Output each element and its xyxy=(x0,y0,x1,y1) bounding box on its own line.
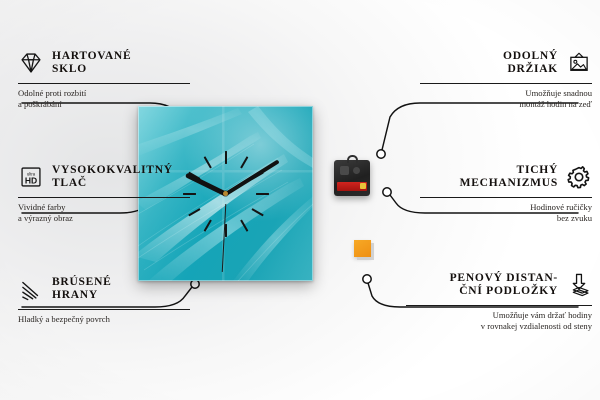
feature-title: BRÚSENÉ HRANY xyxy=(52,276,112,303)
feature-head: BRÚSENÉ HRANY xyxy=(18,272,190,306)
feature-description: Hladký a bezpečný povrch xyxy=(18,314,190,325)
arrow-down-layers-icon xyxy=(566,272,592,298)
feature-description: Umožňuje vám držať hodiny v rovnakej vzd… xyxy=(406,310,592,331)
feature-ground-edges: BRÚSENÉ HRANY Hladký a bezpečný povrch xyxy=(18,272,190,325)
feature-head: TICHÝ MECHANIZMUS xyxy=(420,160,592,194)
feature-head: PENOVÝ DISTAN- ČNÍ PODLOŽKY xyxy=(406,268,592,302)
feature-title-wrap: VYSOKOKVALITNÝ TLAČ xyxy=(52,164,173,191)
mechanism-hanger-lug xyxy=(347,155,358,163)
feature-high-quality-print: ultra HD VYSOKOKVALITNÝ TLAČ Vividné far… xyxy=(18,160,190,223)
feature-divider xyxy=(406,305,592,306)
feature-description: Vividné farby a výrazný obraz xyxy=(18,202,190,223)
feature-divider xyxy=(420,197,592,198)
feature-divider xyxy=(420,83,592,84)
feature-silent-mechanism: TICHÝ MECHANIZMUS Hodinové ručičky bez z… xyxy=(420,160,592,223)
dot-foam-spacers xyxy=(363,275,371,283)
feature-title-wrap: BRÚSENÉ HRANY xyxy=(52,276,112,303)
feature-description: Hodinové ručičky bez zvuku xyxy=(420,202,592,223)
ultra-hd-icon: ultra HD xyxy=(18,164,44,190)
feature-title-wrap: HARTOVANÉ SKLO xyxy=(52,50,131,77)
feature-foam-spacers: PENOVÝ DISTAN- ČNÍ PODLOŽKY Umožňuje vám… xyxy=(406,268,592,331)
feature-title: TICHÝ MECHANIZMUS xyxy=(460,164,558,191)
svg-text:HD: HD xyxy=(25,176,37,186)
wire-durable-holder xyxy=(382,103,578,150)
mechanism-knob xyxy=(340,166,349,175)
clock-center-cap xyxy=(223,191,228,196)
feature-title-wrap: TICHÝ MECHANIZMUS xyxy=(460,164,558,191)
picture-hanger-icon xyxy=(566,50,592,76)
feature-head: ultra HD VYSOKOKVALITNÝ TLAČ xyxy=(18,160,190,194)
feature-description: Odolné proti rozbití a poškrábání xyxy=(18,88,190,109)
mechanism-battery xyxy=(337,182,367,191)
dot-durable-holder xyxy=(377,150,385,158)
gear-icon xyxy=(566,164,592,190)
battery-terminal xyxy=(360,183,366,189)
feature-tempered-glass: HARTOVANÉ SKLO Odolné proti rozbití a po… xyxy=(18,46,190,109)
diagonal-lines-icon xyxy=(18,276,44,302)
feature-title: PENOVÝ DISTAN- ČNÍ PODLOŽKY xyxy=(450,272,558,299)
feature-title: HARTOVANÉ SKLO xyxy=(52,50,131,77)
mechanism-dial xyxy=(353,167,360,174)
feature-head: ODOLNÝ DRŽIAK xyxy=(420,46,592,80)
feature-description: Umožňuje snadnou montáž hodin na zeď xyxy=(420,88,592,109)
feature-title-wrap: PENOVÝ DISTAN- ČNÍ PODLOŽKY xyxy=(450,272,558,299)
feature-durable-holder: ODOLNÝ DRŽIAK Umožňuje snadnou montáž ho… xyxy=(420,46,592,109)
infographic-canvas: HARTOVANÉ SKLO Odolné proti rozbití a po… xyxy=(0,0,600,400)
feature-head: HARTOVANÉ SKLO xyxy=(18,46,190,80)
feature-title-wrap: ODOLNÝ DRŽIAK xyxy=(503,50,558,77)
feature-divider xyxy=(18,309,190,310)
feature-divider xyxy=(18,197,190,198)
dot-silent-mechanism xyxy=(383,188,391,196)
feature-title: VYSOKOKVALITNÝ TLAČ xyxy=(52,164,173,191)
clock-mechanism xyxy=(334,160,370,196)
feature-divider xyxy=(18,83,190,84)
foam-spacer-pad xyxy=(354,240,371,257)
diamond-icon xyxy=(18,50,44,76)
feature-title: ODOLNÝ DRŽIAK xyxy=(503,50,558,77)
